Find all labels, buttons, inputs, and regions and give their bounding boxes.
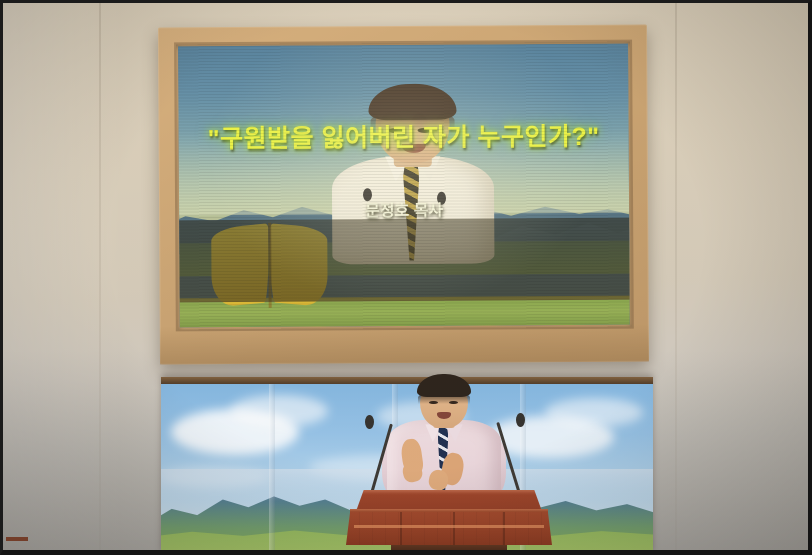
projected-hair — [369, 84, 457, 120]
pulpit-base — [391, 545, 506, 554]
projection-screen-frame: "구원받을 잃어버린 자가 누구인가?" 문정호 목사 — [158, 25, 649, 365]
pulpit-highlight — [354, 525, 544, 528]
sermon-title: "구원받을 잃어버린 자가 누구인가?" — [179, 117, 629, 156]
eye — [429, 401, 438, 404]
eye — [449, 401, 458, 404]
pulpit-front-panel — [346, 512, 552, 545]
caption-band — [179, 218, 629, 302]
pulpit-top — [356, 490, 541, 510]
mural-fold — [269, 384, 275, 554]
preacher — [382, 369, 506, 504]
mural-cloud — [230, 395, 328, 427]
corner-artifact — [6, 537, 28, 541]
microphone-head-right — [516, 413, 525, 427]
panel-seam — [453, 512, 455, 545]
panel-seam — [503, 512, 505, 545]
mural-cloud — [545, 398, 643, 426]
photograph: "구원받을 잃어버린 자가 누구인가?" 문정호 목사 — [0, 0, 812, 555]
frame-shading — [160, 324, 649, 365]
panel-seam — [400, 512, 402, 545]
microphone-head-left — [365, 415, 374, 429]
hair — [417, 374, 472, 397]
sermon-speaker-name: 문정호 목사 — [179, 195, 629, 222]
wood-grain — [346, 512, 552, 545]
wooden-pulpit — [346, 490, 552, 554]
projected-image: "구원받을 잃어버린 자가 누구인가?" 문정호 목사 — [178, 44, 630, 328]
